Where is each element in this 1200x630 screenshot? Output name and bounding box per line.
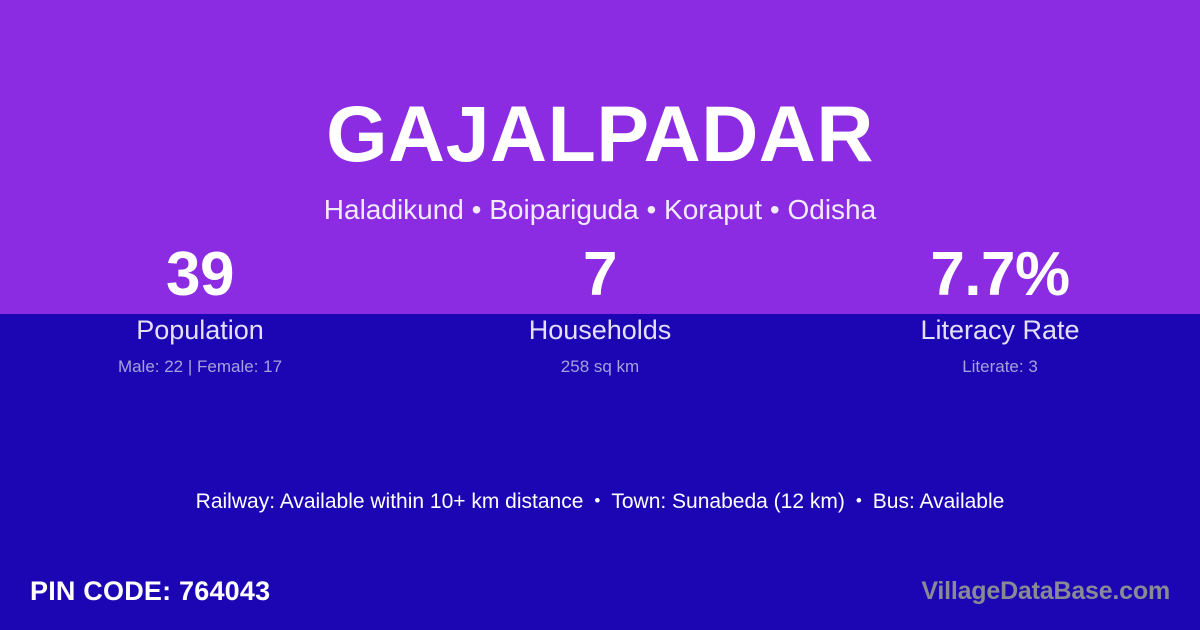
card-header: GAJALPADAR Haladikund • Boipariguda • Ko… [0,0,1200,236]
stat-literacy-rate-label: Literacy Rate [920,315,1079,346]
stat-households-sub: 258 sq km [561,357,639,377]
stat-population: 39 Population Male: 22 | Female: 17 [0,236,400,377]
connectivity-railway: Railway: Available within 10+ km distanc… [196,491,584,512]
stat-literacy-rate-value: 7.7% [930,236,1069,314]
pin-code: PIN CODE: 764043 [30,578,270,605]
connectivity-separator-icon: • [583,492,611,509]
connectivity-separator-icon: • [845,492,873,509]
stat-literacy-rate-sub: Literate: 3 [962,357,1038,377]
site-watermark: VillageDataBase.com [921,579,1170,604]
stat-households: 7 Households 258 sq km [400,236,800,377]
connectivity-town: Town: Sunabeda (12 km) [611,491,844,512]
stat-literacy-rate: 7.7% Literacy Rate Literate: 3 [800,236,1200,377]
breadcrumb: Haladikund • Boipariguda • Koraput • Odi… [324,196,876,224]
stat-households-value: 7 [583,236,617,314]
connectivity-bus: Bus: Available [873,491,1005,512]
stat-population-sub: Male: 22 | Female: 17 [118,357,282,377]
village-info-card: GAJALPADAR Haladikund • Boipariguda • Ko… [0,0,1200,630]
stat-population-value: 39 [166,236,234,314]
page-title: GAJALPADAR [326,94,874,173]
connectivity-strip: Railway: Available within 10+ km distanc… [0,482,1200,520]
connectivity-list: Railway: Available within 10+ km distanc… [196,491,1005,512]
card-footer: PIN CODE: 764043 VillageDataBase.com [0,560,1200,630]
stat-population-label: Population [136,315,264,346]
stats-row: 39 Population Male: 22 | Female: 17 7 Ho… [0,236,1200,386]
stat-households-label: Households [529,315,672,346]
